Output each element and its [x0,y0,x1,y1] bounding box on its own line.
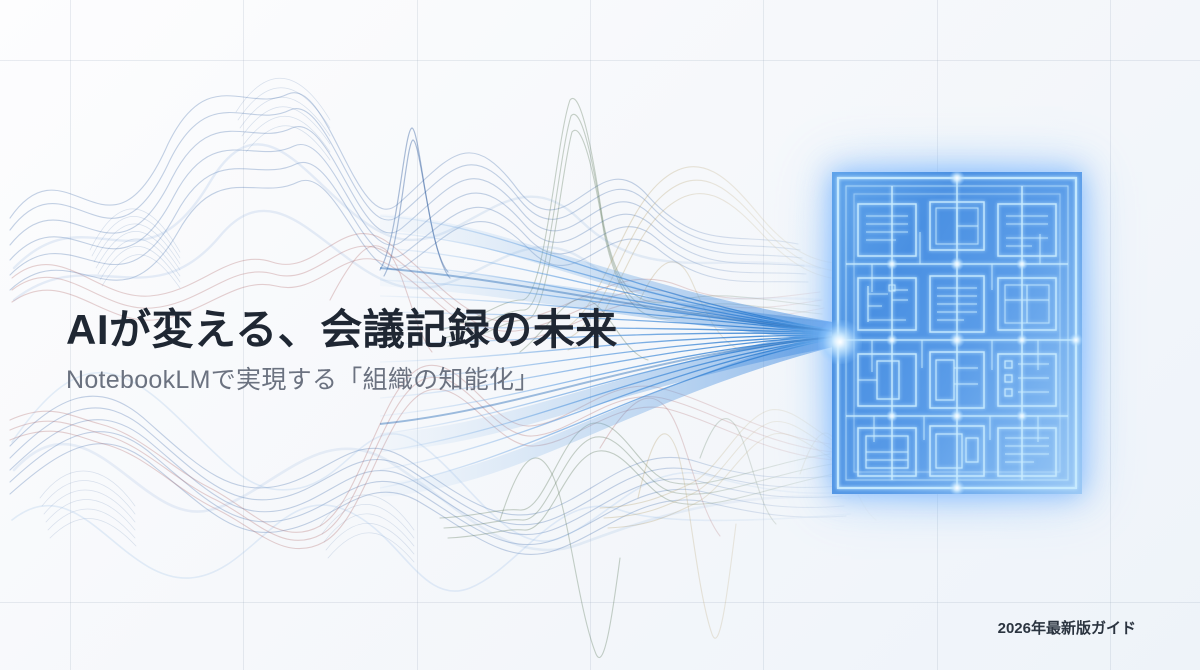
document-header-icon [998,204,1056,256]
bullet-list-icon [998,354,1056,406]
knowledge-grid-panel [832,172,1082,494]
table-columns-icon [998,278,1056,330]
tree-list-icon [858,278,916,330]
document-lines-icon [858,204,916,256]
edition-badge: 2026年最新版ガイド [998,617,1136,638]
grid-line-vertical [763,0,764,670]
grid-line-horizontal [0,602,1200,603]
grid-line-horizontal [0,60,1200,61]
table-grid-icon [858,428,916,476]
grid-line-vertical [1110,0,1111,670]
panel-body [832,172,1082,494]
split-layout-icon [930,202,984,250]
slide-canvas: AIが変える、会議記録の未来 NotebookLMで実現する「組織の知能化」 2… [0,0,1200,670]
document-lines-icon [998,428,1056,476]
page-subtitle: NotebookLMで実現する「組織の知能化」 [66,360,540,396]
page-title: AIが変える、会議記録の未来 [66,296,618,357]
vertical-bar-card-icon [858,354,916,406]
